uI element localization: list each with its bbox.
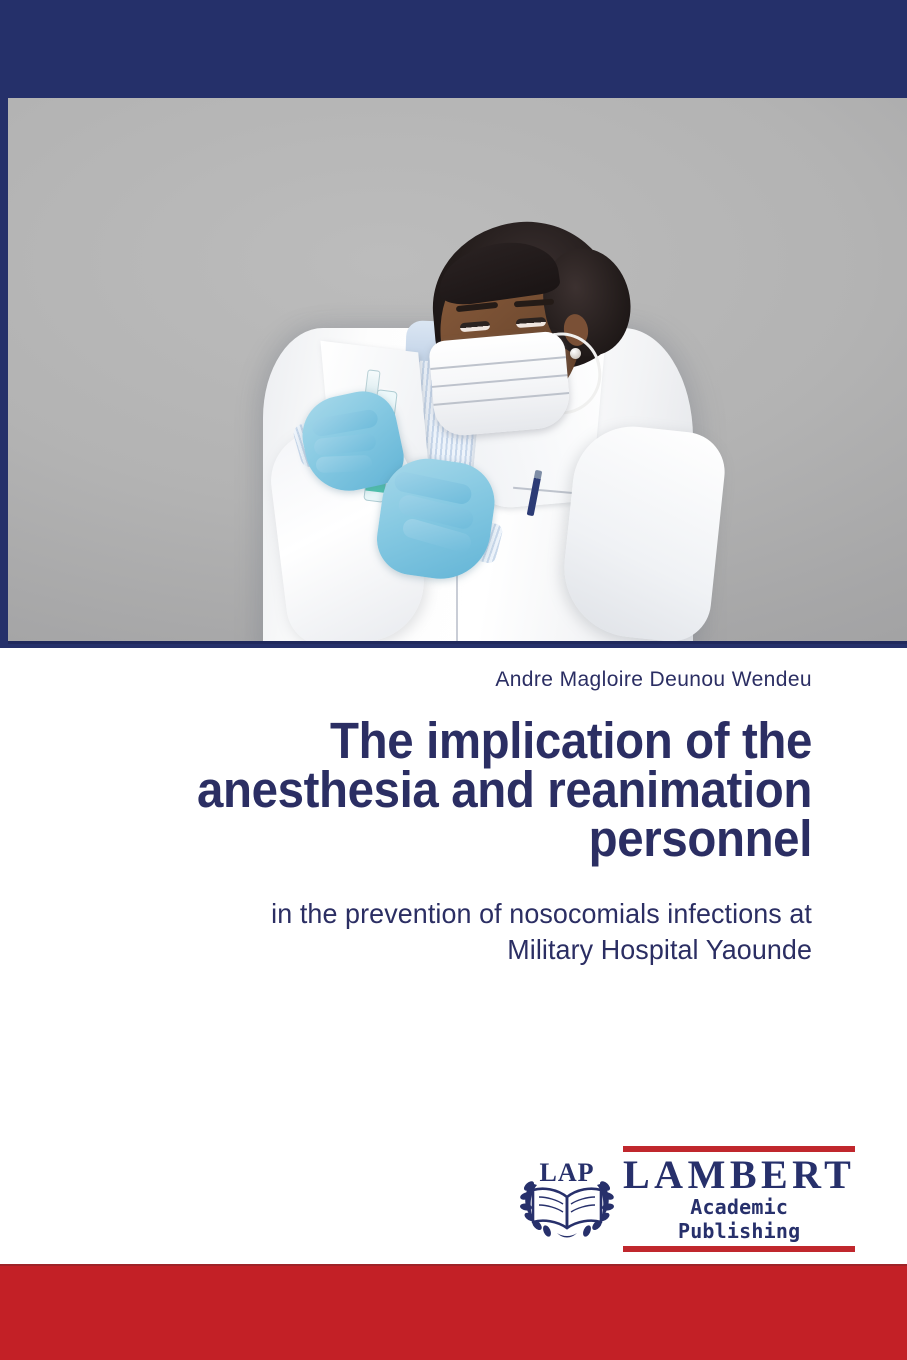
author-name: Andre Magloire Deunou Wendeu: [495, 668, 812, 692]
title-line-3: personnel: [105, 814, 812, 863]
arm-right: [557, 421, 728, 644]
book-title: The implication of the anesthesia and re…: [105, 716, 812, 863]
healthcare-worker-illustration: [8, 98, 907, 644]
subtitle-line-1: in the prevention of nosocomials infecti…: [82, 896, 812, 932]
top-navy-band: [0, 0, 907, 96]
mask-pleat: [430, 356, 566, 370]
publisher-logo: LAP LAMBERT Academic Publishing: [517, 1152, 827, 1244]
logo-rule-bottom: [623, 1246, 855, 1252]
book-subtitle: in the prevention of nosocomials infecti…: [82, 896, 812, 968]
title-line-2: anesthesia and reanimation: [105, 765, 812, 814]
surgical-mask: [428, 330, 572, 437]
publisher-wordmark: LAMBERT Academic Publishing: [623, 1144, 855, 1252]
lap-book-laurel-icon: LAP: [517, 1153, 617, 1243]
svg-text:LAP: LAP: [540, 1158, 595, 1187]
publisher-name: LAMBERT: [623, 1155, 855, 1195]
cover-photo-frame: [0, 96, 907, 648]
mask-pleat: [432, 374, 568, 388]
photo-bottom-edge: [8, 641, 907, 644]
publisher-tagline: Academic Publishing: [623, 1195, 855, 1243]
glove-finger: [316, 455, 373, 473]
mask-pleat: [433, 392, 569, 406]
title-line-1: The implication of the: [105, 716, 812, 765]
cover-photo: [8, 98, 907, 644]
subtitle-line-2: Military Hospital Yaounde: [82, 932, 812, 968]
bottom-red-band: [0, 1264, 907, 1360]
